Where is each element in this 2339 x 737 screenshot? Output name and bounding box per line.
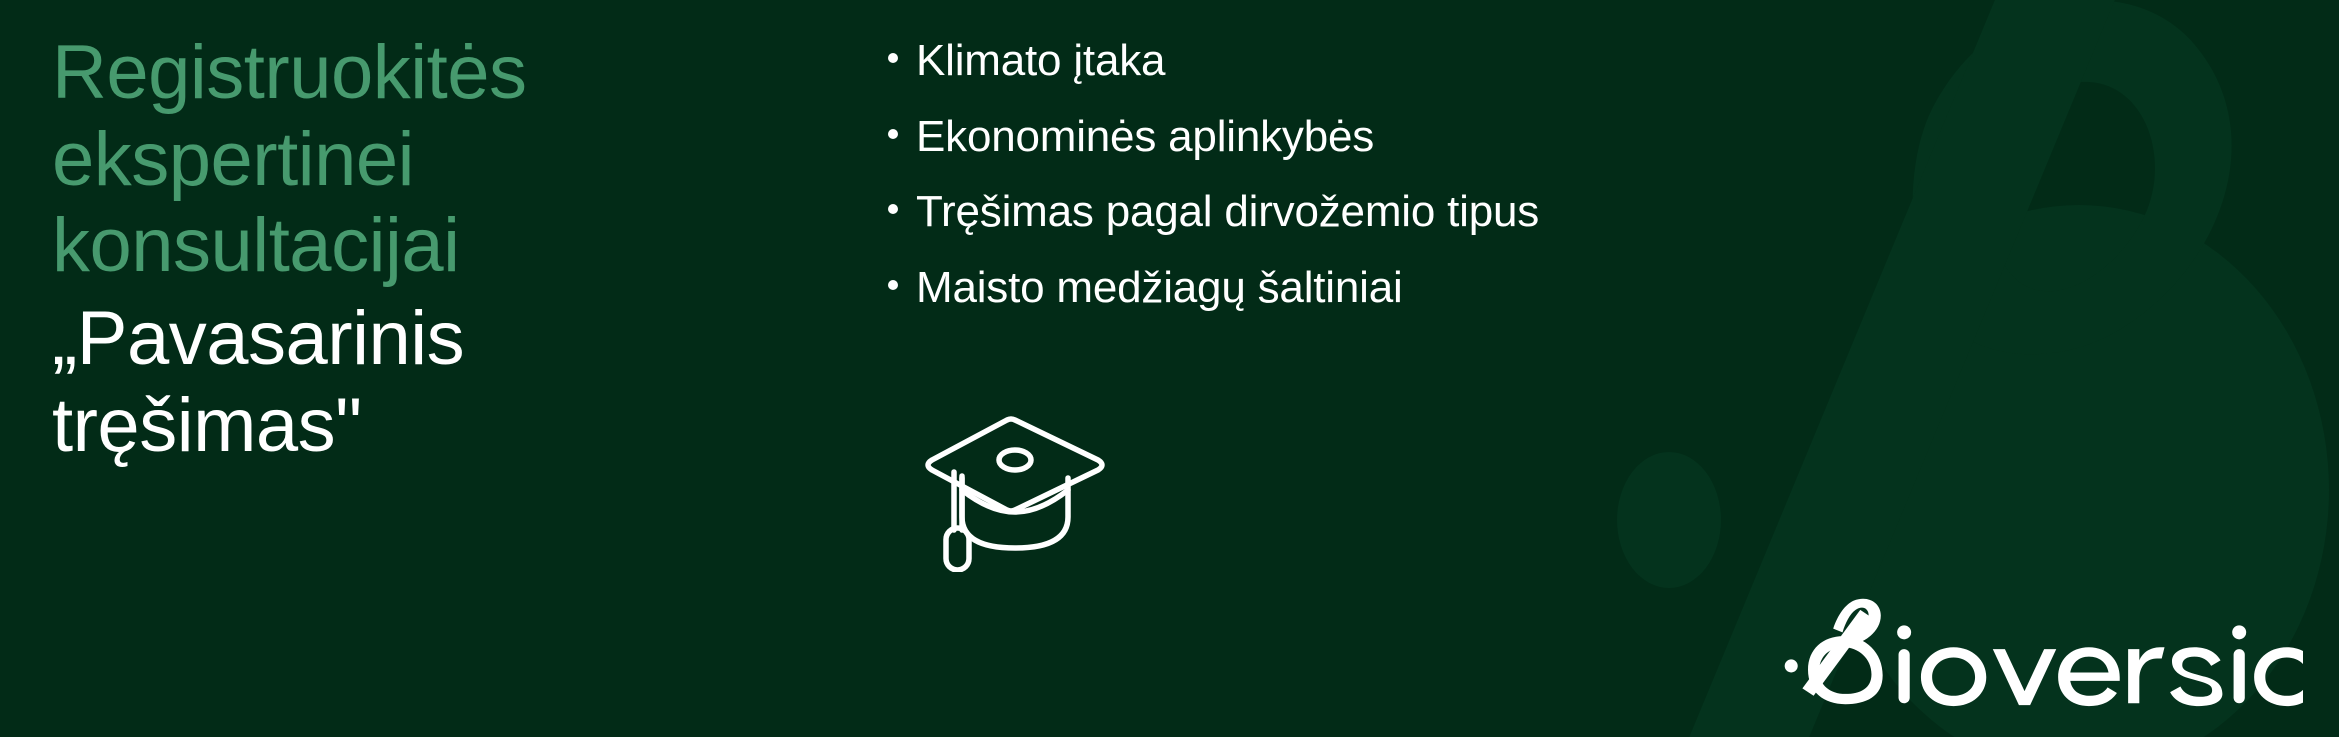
bullet-dot-icon bbox=[888, 280, 898, 290]
list-item-label: Ekonominės aplinkybės bbox=[916, 110, 1374, 164]
bioversio-logo[interactable] bbox=[1780, 591, 2303, 711]
list-item: Maisto medžiagų šaltiniai bbox=[888, 261, 1539, 315]
feature-list: Klimato įtaka Ekonominės aplinkybės Tręš… bbox=[888, 34, 1539, 337]
headline-block: Registruokitės ekspertinei konsultacijai… bbox=[52, 30, 852, 469]
bullet-dot-icon bbox=[888, 204, 898, 214]
list-item-label: Klimato įtaka bbox=[916, 34, 1165, 88]
page-title-quoted: „Pavasarinis tręšimas" bbox=[52, 296, 852, 469]
list-item: Klimato įtaka bbox=[888, 34, 1539, 88]
promo-banner: Registruokitės ekspertinei konsultacijai… bbox=[0, 0, 2339, 737]
page-title-accent: Registruokitės ekspertinei konsultacijai bbox=[52, 30, 852, 290]
list-item-label: Tręšimas pagal dirvožemio tipus bbox=[916, 185, 1539, 239]
bullet-dot-icon bbox=[888, 129, 898, 139]
bullet-dot-icon bbox=[888, 53, 898, 63]
list-item-label: Maisto medžiagų šaltiniai bbox=[916, 261, 1403, 315]
list-item: Tręšimas pagal dirvožemio tipus bbox=[888, 185, 1539, 239]
graduation-cap-icon bbox=[920, 412, 1110, 572]
list-item: Ekonominės aplinkybės bbox=[888, 110, 1539, 164]
